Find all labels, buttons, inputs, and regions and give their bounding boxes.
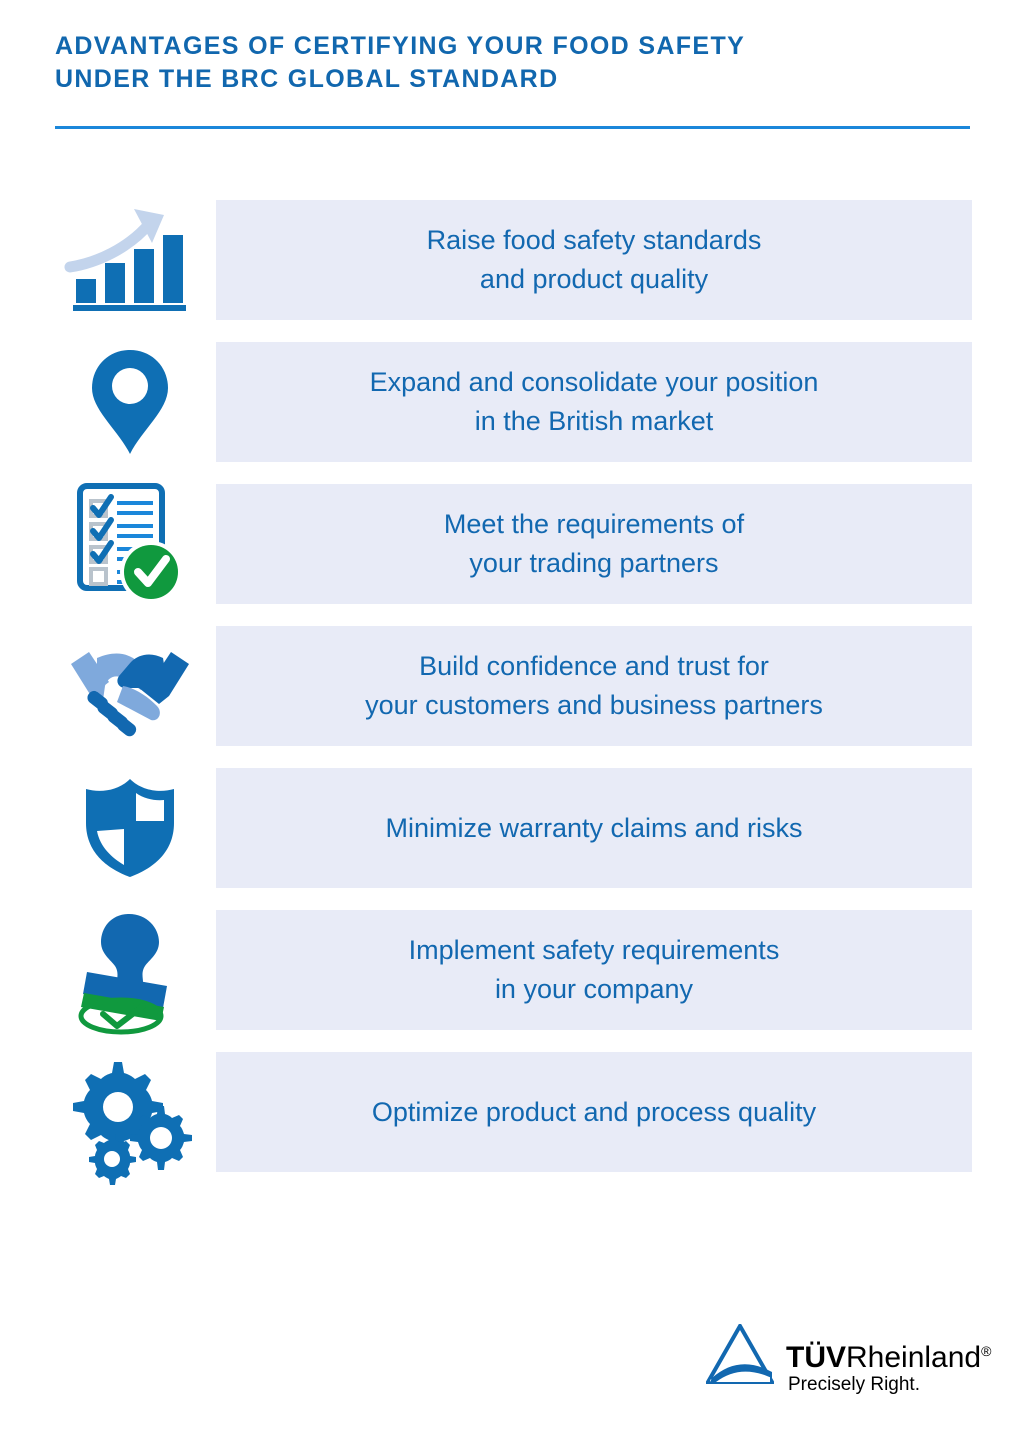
list-item: Meet the requirements of your trading pa…	[0, 484, 1024, 604]
list-item-line: Implement safety requirements	[409, 931, 780, 970]
list-item-text: Minimize warranty claims and risks	[216, 768, 972, 888]
list-item: Optimize product and process quality	[0, 1052, 1024, 1172]
list-item-line: Raise food safety standards	[427, 221, 762, 260]
list-item: Expand and consolidate your position in …	[0, 342, 1024, 462]
tuv-rheinland-triangle-icon	[706, 1324, 774, 1391]
list-item-text: Meet the requirements of your trading pa…	[216, 484, 972, 604]
list-item-line: in the British market	[475, 402, 714, 441]
list-item-text: Build confidence and trust for your cust…	[216, 626, 972, 746]
checklist-approved-icon	[62, 484, 202, 604]
list-item-text: Expand and consolidate your position in …	[216, 342, 972, 462]
list-item-text: Optimize product and process quality	[216, 1052, 972, 1172]
logo-wordmark: TÜVRheinland®	[786, 1334, 991, 1375]
logo-brand-bold: TÜV	[786, 1341, 846, 1374]
list-item: Build confidence and trust for your cust…	[0, 626, 1024, 746]
bar-chart-growth-icon	[56, 200, 196, 320]
handshake-icon	[60, 626, 200, 746]
logo-brand-regular: Rheinland	[846, 1341, 981, 1374]
list-item-line: Minimize warranty claims and risks	[385, 809, 802, 848]
logo-tagline: Precisely Right.	[788, 1374, 920, 1396]
list-item-line: Expand and consolidate your position	[370, 363, 819, 402]
list-item-text: Implement safety requirements in your co…	[216, 910, 972, 1030]
advantages-list: Raise food safety standards and product …	[0, 200, 1024, 1194]
list-item-line: and product quality	[480, 260, 708, 299]
title-divider	[55, 126, 970, 129]
map-pin-icon	[60, 342, 200, 462]
list-item-line: Meet the requirements of	[444, 505, 744, 544]
list-item-line: in your company	[495, 970, 693, 1009]
list-item-line: your customers and business partners	[365, 686, 823, 725]
list-item-line: Optimize product and process quality	[372, 1093, 816, 1132]
gears-icon	[60, 1052, 200, 1172]
tuv-rheinland-logo: TÜVRheinland® Precisely Right.	[706, 1322, 986, 1412]
list-item: Minimize warranty claims and risks	[0, 768, 1024, 888]
page-header: ADVANTAGES OF CERTIFYING YOUR FOOD SAFET…	[55, 30, 975, 96]
list-item-text: Raise food safety standards and product …	[216, 200, 972, 320]
list-item-line: your trading partners	[469, 544, 718, 583]
page-title-line-2: UNDER THE BRC GLOBAL STANDARD	[55, 63, 975, 96]
list-item: Raise food safety standards and product …	[0, 200, 1024, 320]
list-item-line: Build confidence and trust for	[419, 647, 769, 686]
page-title-line-1: ADVANTAGES OF CERTIFYING YOUR FOOD SAFET…	[55, 30, 975, 63]
stamp-approved-icon	[58, 910, 198, 1030]
shield-icon	[60, 768, 200, 888]
list-item: Implement safety requirements in your co…	[0, 910, 1024, 1030]
registered-trademark-icon: ®	[981, 1343, 991, 1359]
